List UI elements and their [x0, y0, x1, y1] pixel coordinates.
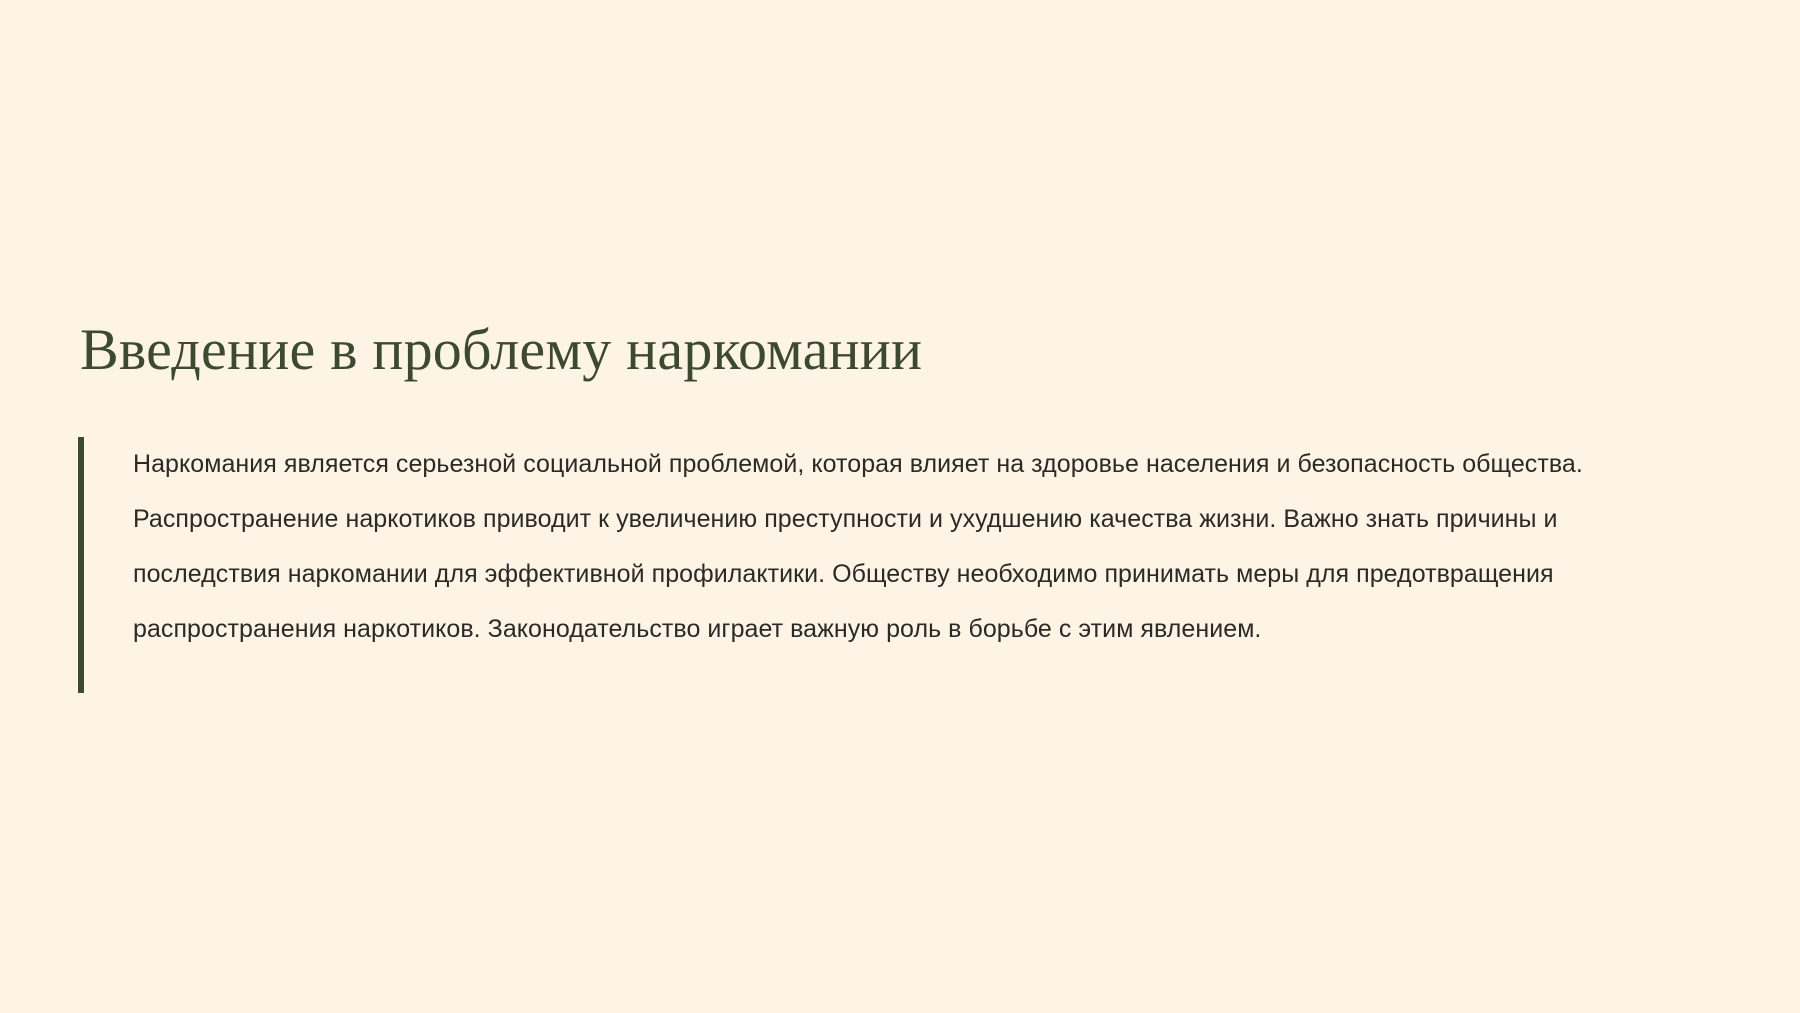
body-paragraph: Наркомания является серьезной социальной… — [84, 437, 1698, 693]
body-callout: Наркомания является серьезной социальной… — [78, 437, 1698, 693]
slide-canvas: Введение в проблему наркомании Наркомани… — [0, 0, 1800, 1013]
page-title: Введение в проблему наркомании — [80, 318, 922, 382]
